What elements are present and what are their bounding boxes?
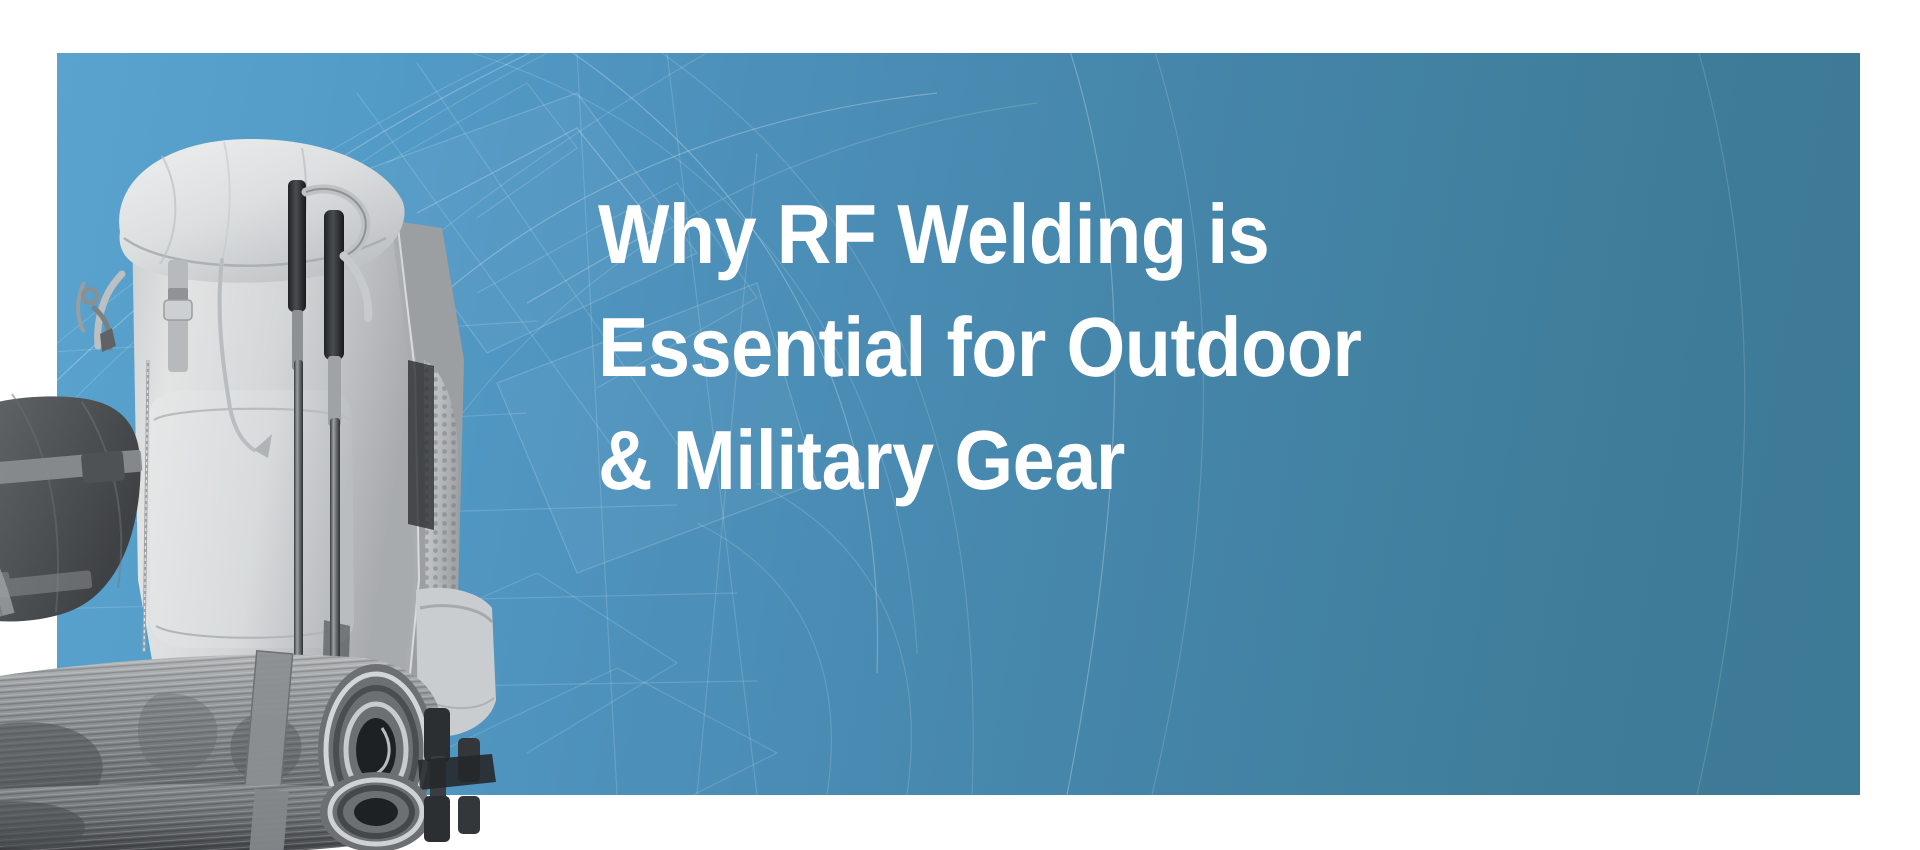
panel-bottom-white-strip [0,795,1920,850]
hero-banner: Why RF Welding is Essential for Outdoor … [0,0,1920,850]
headline-line-2: Essential for Outdoor [598,291,1705,404]
headline-line-3: & Military Gear [598,404,1705,517]
headline-line-1: Why RF Welding is [598,178,1705,291]
headline: Why RF Welding is Essential for Outdoor … [598,178,1828,517]
